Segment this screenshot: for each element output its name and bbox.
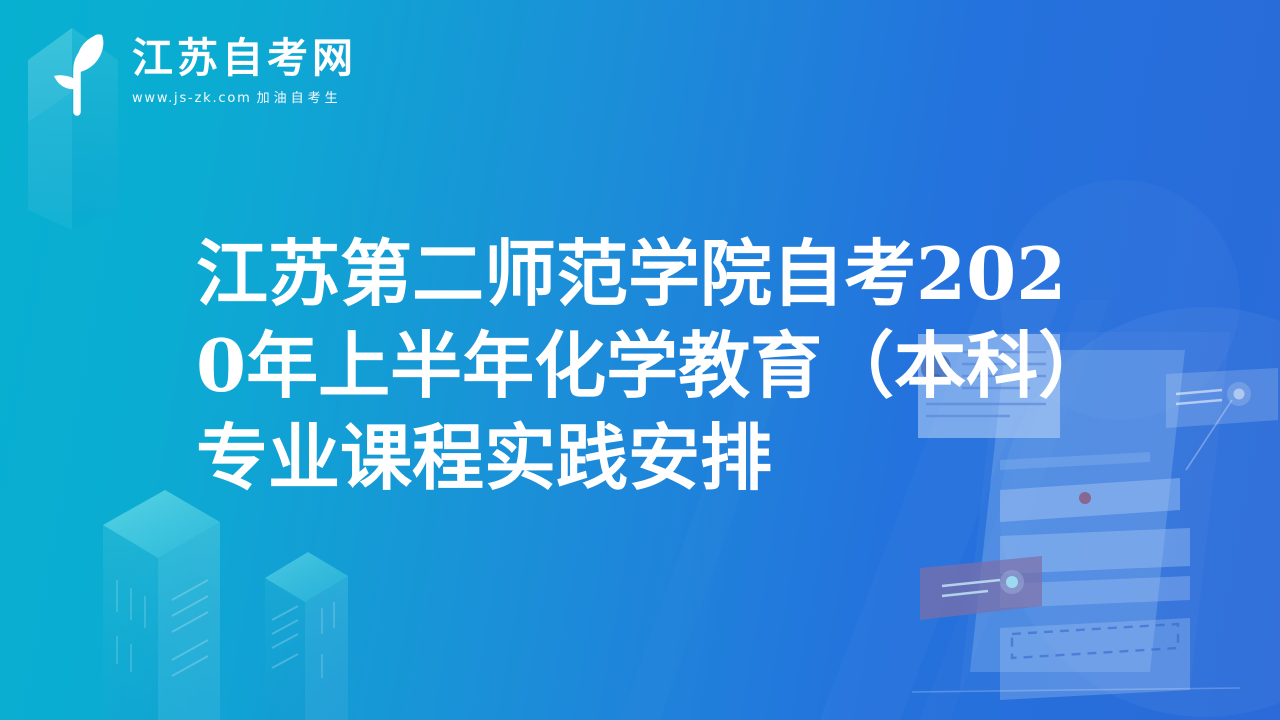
- site-logo[interactable]: 江苏自考网 www.js-zk.com加油自考生: [36, 24, 357, 116]
- logo-url: www.js-zk.com: [132, 91, 252, 106]
- dashed-placeholder-box: [1000, 618, 1190, 700]
- logo-subtitle: www.js-zk.com加油自考生: [132, 87, 357, 106]
- sprout-icon: [36, 24, 118, 116]
- logo-title: 江苏自考网: [132, 36, 357, 80]
- banner: 江苏自考网 www.js-zk.com加油自考生 江苏第二师范学院自考2020年…: [0, 0, 1280, 720]
- logo-text-block: 江苏自考网 www.js-zk.com加油自考生: [132, 34, 357, 106]
- page-title: 江苏第二师范学院自考2020年上半年化学教育（本科）专业课程实践安排: [196, 228, 1096, 504]
- tower-short-left: [265, 552, 348, 720]
- logo-slogan: 加油自考生: [257, 91, 342, 106]
- tower-tall-left: [103, 490, 220, 720]
